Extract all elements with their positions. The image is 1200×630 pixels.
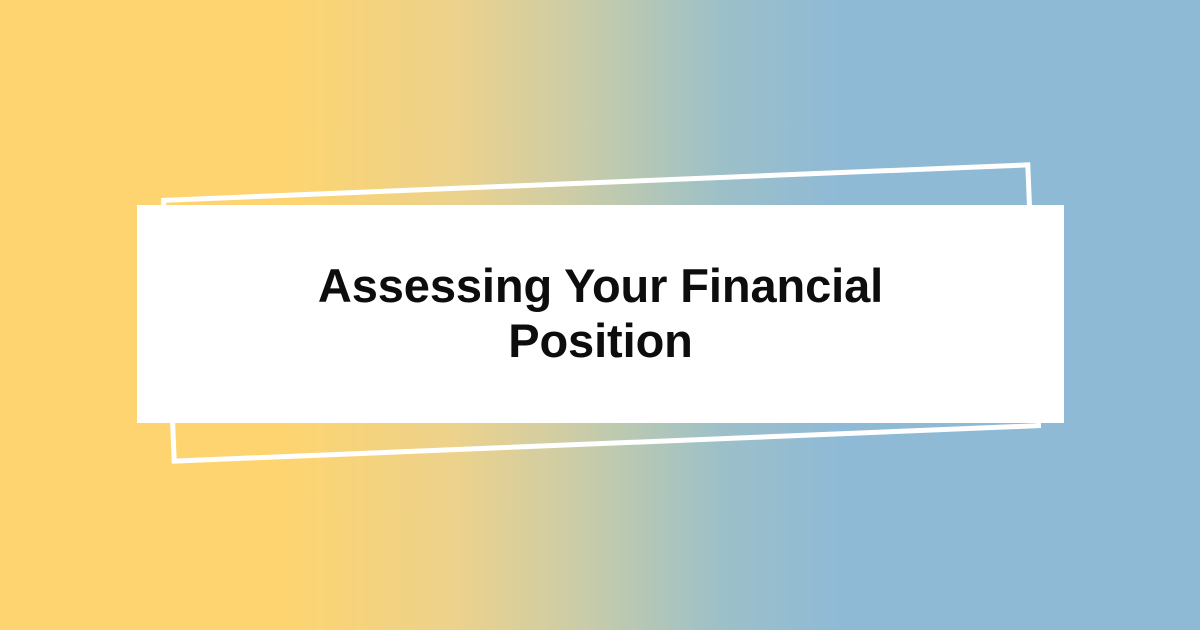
poster-canvas: Assessing Your Financial Position	[0, 0, 1200, 630]
title-card: Assessing Your Financial Position	[137, 205, 1064, 423]
page-title: Assessing Your Financial Position	[281, 259, 921, 369]
